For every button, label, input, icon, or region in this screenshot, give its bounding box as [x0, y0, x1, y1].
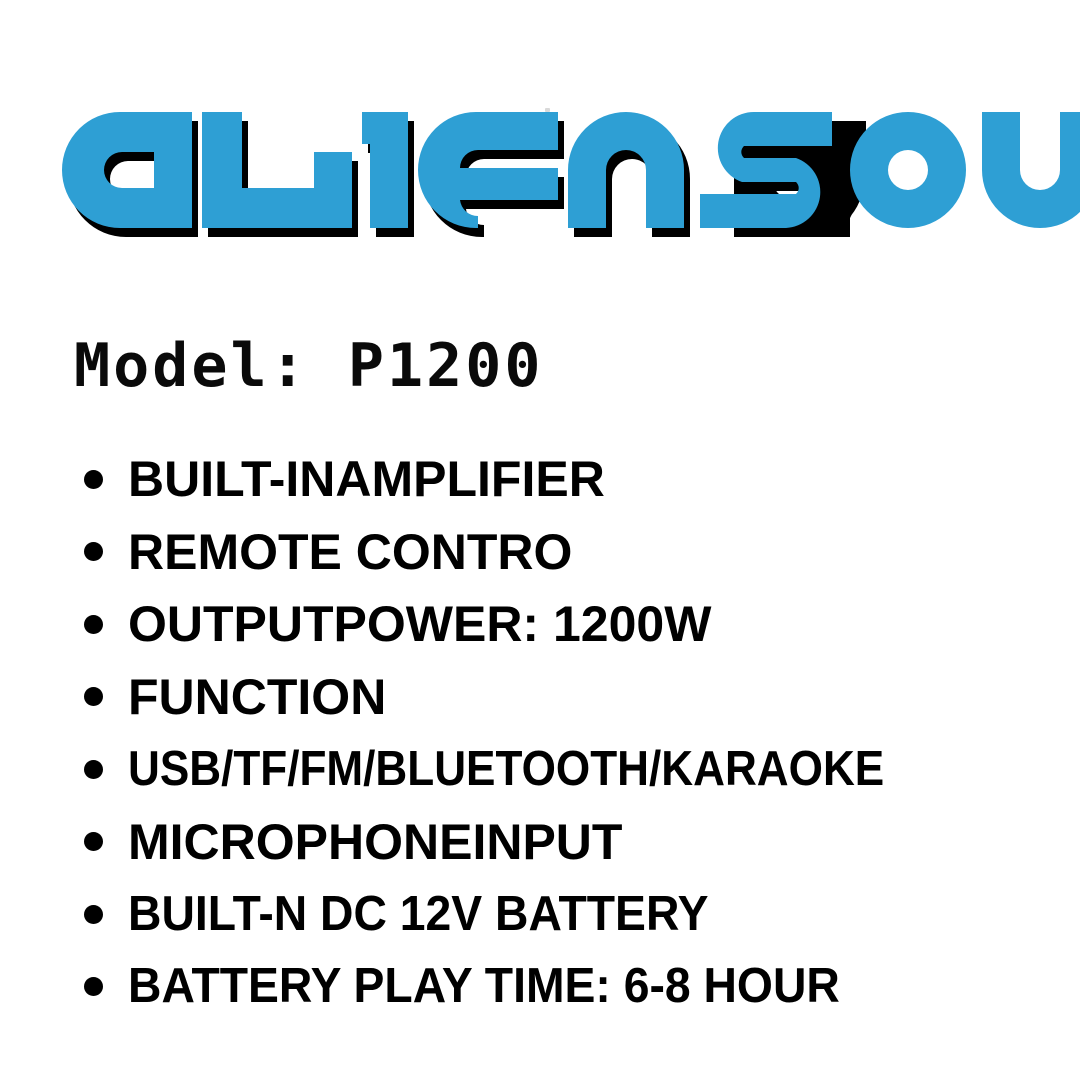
bullet-icon [84, 687, 103, 706]
logo-speck [545, 108, 550, 112]
spec-list-item: OUTPUTPOWER: 1200W [78, 588, 1058, 661]
spec-item-label: BUILT-INAMPLIFIER [128, 454, 605, 504]
brand-wordmark-sound [700, 112, 1080, 228]
spec-list-item: MICROPHONEINPUT [78, 806, 1058, 879]
spec-list-item: REMOTE CONTRO [78, 516, 1058, 589]
spec-item-label: BUILT-N DC 12V BATTERY [128, 890, 709, 939]
spec-item-label: REMOTE CONTRO [128, 527, 572, 577]
spec-list: BUILT-INAMPLIFIER REMOTE CONTRO OUTPUTPO… [78, 443, 1058, 1023]
bullet-icon [84, 470, 103, 489]
spec-list-item: BUILT-INAMPLIFIER [78, 443, 1058, 516]
brand-logo-artwork: ALIEN SOUND [62, 112, 1032, 237]
brand-logo: ALIEN SOUND [62, 112, 1032, 237]
bullet-icon [84, 905, 103, 924]
spec-item-label: MICROPHONEINPUT [128, 817, 622, 867]
spec-item-label: OUTPUTPOWER: 1200W [128, 599, 711, 649]
bullet-icon [84, 615, 103, 634]
bullet-icon [84, 542, 103, 561]
spec-list-item: BATTERY PLAY TIME: 6-8 HOUR [78, 951, 1058, 1024]
spec-list-item: BUILT-N DC 12V BATTERY [78, 878, 1058, 951]
brand-wordmark-alien [62, 112, 684, 228]
bullet-icon [84, 977, 103, 996]
model-label: Model: P1200 [74, 336, 543, 396]
spec-item-label: FUNCTION [128, 672, 386, 722]
spec-list-item: USB/TF/FM/BLUETOOTH/KARAOKE [78, 733, 1058, 806]
product-spec-card: ALIEN SOUND [0, 0, 1080, 1080]
spec-list-item: FUNCTION [78, 661, 1058, 734]
bullet-icon [84, 760, 103, 779]
bullet-icon [84, 832, 103, 851]
spec-item-label: BATTERY PLAY TIME: 6-8 HOUR [128, 962, 840, 1011]
spec-item-label: USB/TF/FM/BLUETOOTH/KARAOKE [128, 745, 884, 794]
